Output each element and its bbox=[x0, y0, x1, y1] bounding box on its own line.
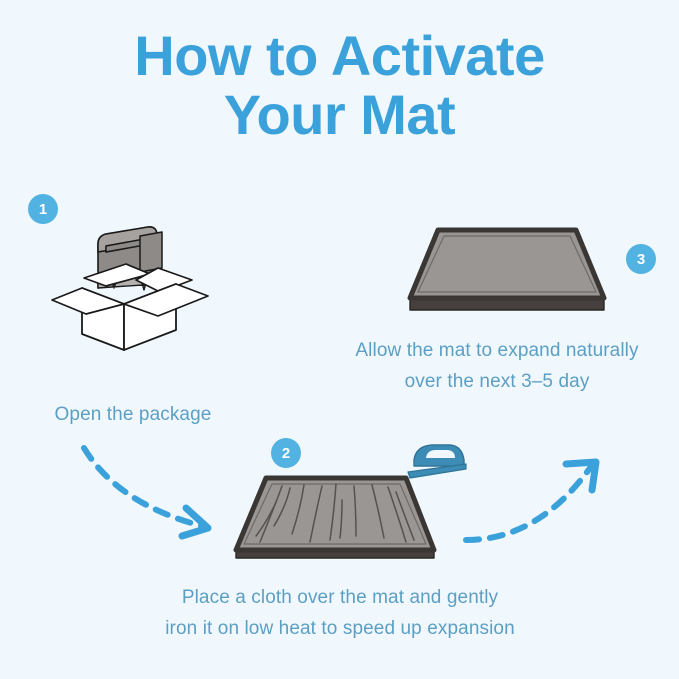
title-line-1: How to Activate bbox=[0, 26, 679, 85]
page-title: How to Activate Your Mat bbox=[0, 26, 679, 145]
flat-mat-icon bbox=[404, 224, 610, 316]
infographic-canvas: How to Activate Your Mat 1 Open the pack… bbox=[0, 0, 679, 679]
step-2-caption: Place a cloth over the mat and gently ir… bbox=[110, 583, 570, 645]
dashed-arrow-step1-to-step2 bbox=[78, 442, 238, 542]
iron-icon bbox=[398, 438, 470, 486]
title-line-2: Your Mat bbox=[0, 85, 679, 144]
step-2-badge: 2 bbox=[271, 438, 301, 468]
step-1-badge: 1 bbox=[28, 194, 58, 224]
step-1-caption: Open the package bbox=[0, 400, 266, 431]
open-box-with-mat-icon bbox=[40, 222, 220, 352]
step-3-caption-line-1: Allow the mat to expand naturally bbox=[355, 340, 638, 361]
step-1-caption-line-1: Open the package bbox=[55, 404, 212, 425]
step-3-badge: 3 bbox=[626, 244, 656, 274]
dashed-arrow-step2-to-step3 bbox=[462, 452, 614, 552]
step-2-caption-line-1: Place a cloth over the mat and gently bbox=[182, 587, 498, 608]
step-3-caption: Allow the mat to expand naturally over t… bbox=[318, 336, 676, 398]
step-3-caption-line-2: over the next 3–5 day bbox=[405, 371, 590, 392]
step-2-caption-line-2: iron it on low heat to speed up expansio… bbox=[165, 618, 515, 639]
